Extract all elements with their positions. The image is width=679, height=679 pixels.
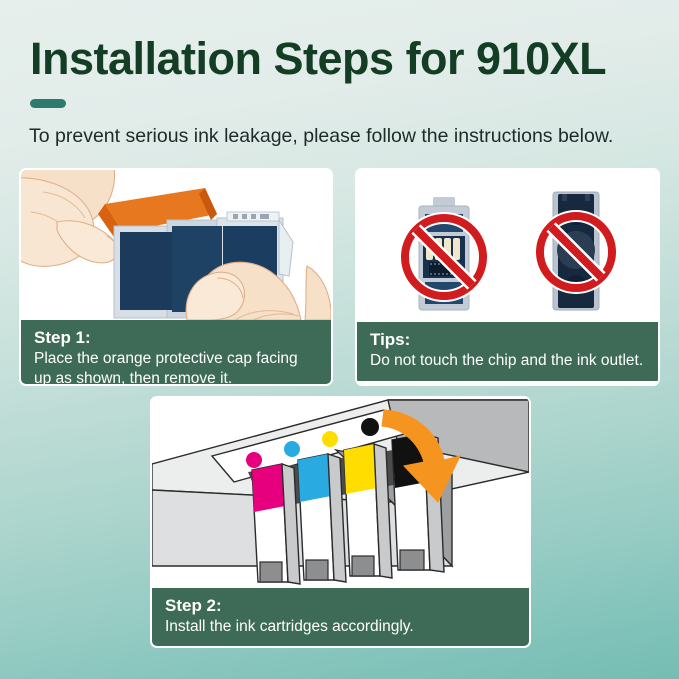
cartridge-cyan bbox=[298, 454, 346, 582]
panel-tips: Tips: Do not touch the chip and the ink … bbox=[355, 168, 660, 386]
page-title: Installation Steps for 910XL bbox=[30, 33, 606, 85]
dot-yellow bbox=[322, 431, 338, 447]
hand-removing-orange-cap-illustration bbox=[21, 170, 331, 320]
step2-illustration bbox=[152, 398, 529, 588]
cartridge-magenta bbox=[252, 464, 300, 584]
cartridge-yellow bbox=[344, 444, 392, 578]
printer-carriage-cartridge-install-illustration bbox=[152, 398, 529, 588]
panel-step2: Step 2: Install the ink cartridges accor… bbox=[150, 396, 531, 648]
tips-illustration bbox=[357, 170, 658, 322]
step1-illustration bbox=[21, 170, 331, 320]
step2-caption-body: Install the ink cartridges accordingly. bbox=[165, 617, 516, 637]
tips-caption-title: Tips: bbox=[370, 329, 645, 350]
tips-caption-body: Do not touch the chip and the ink outlet… bbox=[370, 351, 645, 371]
dot-cyan bbox=[284, 441, 300, 457]
step2-caption: Step 2: Install the ink cartridges accor… bbox=[152, 588, 529, 647]
title-underline-rule bbox=[30, 99, 66, 108]
installation-guide-page: Installation Steps for 910XL To prevent … bbox=[0, 0, 679, 679]
cartridge-chip-and-outlet-prohibited-illustration bbox=[357, 170, 658, 322]
tips-caption: Tips: Do not touch the chip and the ink … bbox=[357, 322, 658, 381]
step1-caption-body: Place the orange protective cap facing u… bbox=[34, 349, 318, 386]
step2-caption-title: Step 2: bbox=[165, 595, 516, 616]
step1-caption-title: Step 1: bbox=[34, 327, 318, 348]
panel-step1: Step 1: Place the orange protective cap … bbox=[19, 168, 333, 386]
step1-caption: Step 1: Place the orange protective cap … bbox=[21, 320, 331, 386]
dot-magenta bbox=[246, 452, 262, 468]
page-subtitle: To prevent serious ink leakage, please f… bbox=[29, 125, 613, 148]
dot-black bbox=[361, 418, 379, 436]
